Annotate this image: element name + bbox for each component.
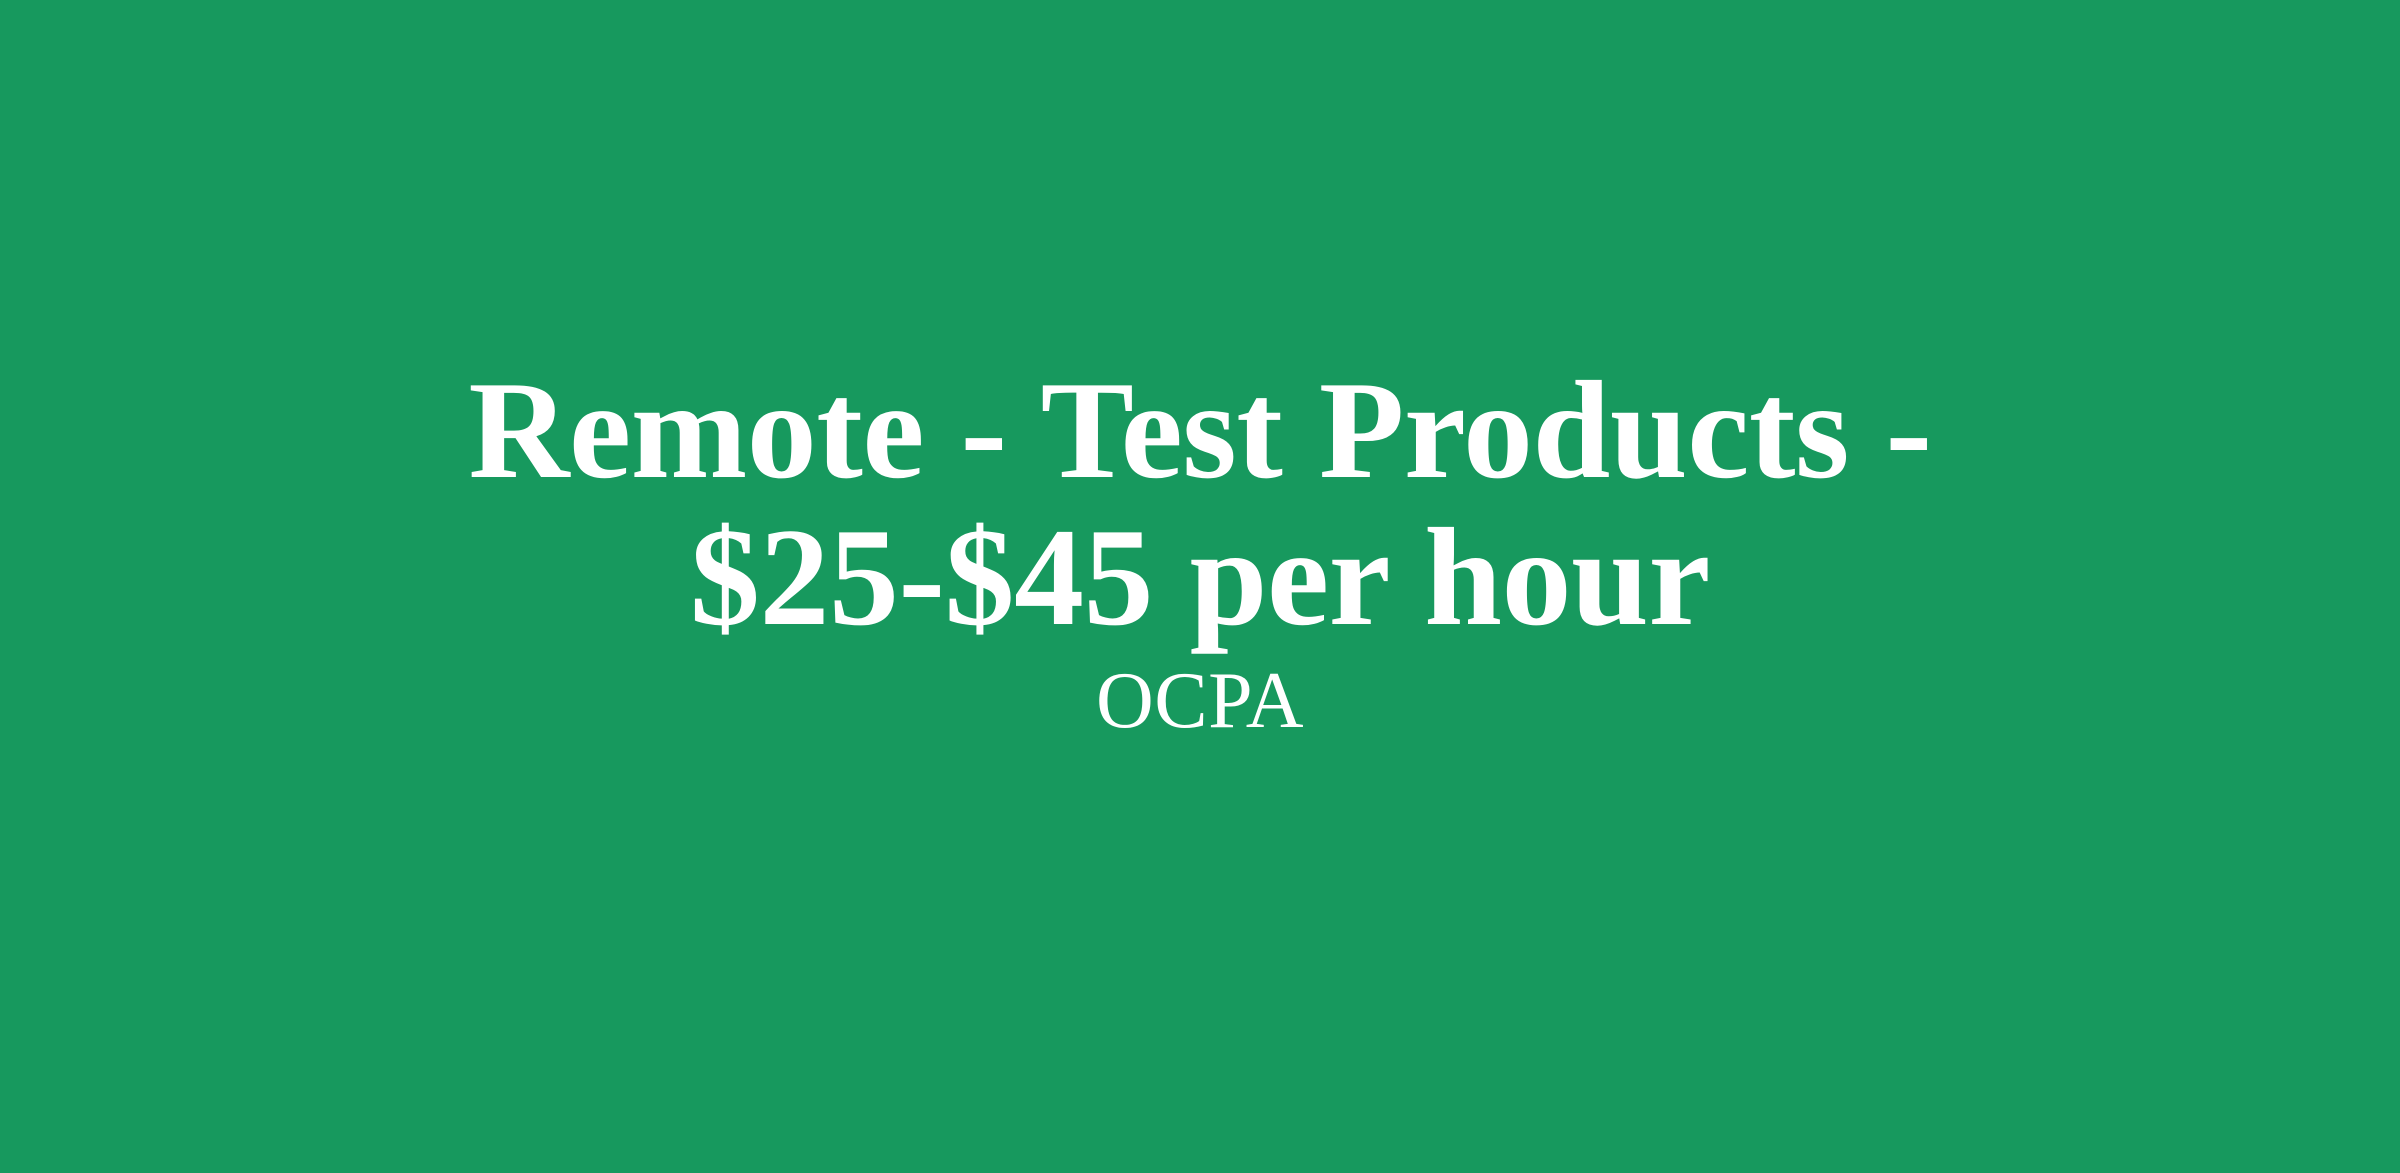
card-subtitle-organization: OCPA [1096,657,1304,745]
card-headline: Remote - Test Products - $25-$45 per hou… [350,357,2050,651]
share-card: Remote - Test Products - $25-$45 per hou… [0,0,2400,1173]
card-content-block: Remote - Test Products - $25-$45 per hou… [350,357,2050,745]
